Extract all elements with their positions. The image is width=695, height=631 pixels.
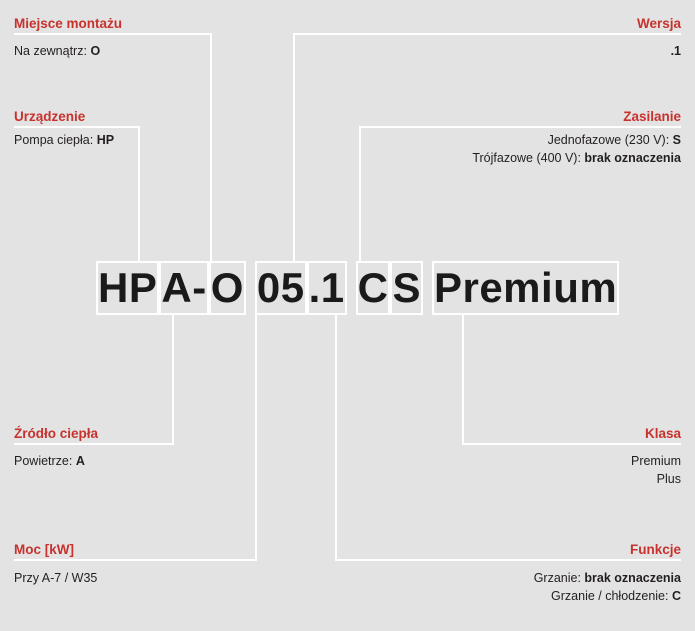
callout-funkcje-caption: Funkcje	[630, 541, 681, 558]
callout-urzadzenie: Urządzenie	[14, 108, 85, 125]
row-label: Pompa ciepła:	[14, 133, 93, 147]
leader-zrodlo-ciepla-horizontal	[14, 443, 174, 445]
leader-urzadzenie-vertical	[138, 126, 140, 261]
code-segment-s: S	[390, 261, 423, 315]
code-segment-o: O	[209, 261, 246, 315]
row-value: brak oznaczenia	[584, 571, 681, 585]
code-segment-dot1: .1	[307, 261, 347, 315]
callout-funkcje-body: Grzanie: brak oznaczenia Grzanie / chłod…	[534, 570, 681, 605]
callout-row: Grzanie / chłodzenie: C	[534, 588, 681, 606]
leader-moc-horizontal	[14, 559, 257, 561]
callout-row: Na zewnątrz: O	[14, 43, 100, 61]
callout-moc: Moc [kW]	[14, 541, 74, 558]
leader-zasilanie-vertical	[359, 126, 361, 261]
callout-row: Przy A-7 / W35	[14, 570, 97, 588]
leader-miejsce-montazu-vertical	[210, 33, 212, 261]
code-gap-3	[423, 261, 432, 315]
code-gap-1	[246, 261, 255, 315]
callout-row: Trójfazowe (400 V): brak oznaczenia	[472, 150, 681, 168]
code-segment-05: 05	[255, 261, 307, 315]
callout-zasilanie-caption: Zasilanie	[623, 108, 681, 125]
row-value: C	[672, 589, 681, 603]
code-segment-a-dash: A-	[159, 261, 208, 315]
callout-urzadzenie-body: Pompa ciepła: HP	[14, 132, 114, 150]
product-code: HP A- O 05 .1 C S Premium	[96, 261, 619, 315]
callout-zrodlo-ciepla: Źródło ciepła	[14, 425, 98, 442]
callout-zrodlo-ciepla-caption: Źródło ciepła	[14, 425, 98, 442]
row-value: A	[76, 454, 85, 468]
callout-row: Jednofazowe (230 V): S	[472, 132, 681, 150]
code-segment-c: C	[356, 261, 391, 315]
row-value: .1	[671, 44, 681, 58]
leader-klasa-vertical	[462, 315, 464, 445]
callout-zrodlo-ciepla-body: Powietrze: A	[14, 453, 85, 471]
row-label: Jednofazowe (230 V):	[548, 133, 670, 147]
leader-zasilanie-horizontal	[359, 126, 681, 128]
callout-row: Grzanie: brak oznaczenia	[534, 570, 681, 588]
leader-miejsce-montazu-horizontal	[14, 33, 212, 35]
callout-funkcje: Funkcje	[630, 541, 681, 558]
row-value: HP	[97, 133, 114, 147]
callout-moc-caption: Moc [kW]	[14, 541, 74, 558]
leader-funkcje-horizontal	[335, 559, 681, 561]
nomenclature-diagram: Miejsce montażu Na zewnątrz: O Urządzeni…	[0, 0, 695, 631]
row-value: S	[673, 133, 681, 147]
leader-urzadzenie-horizontal	[14, 126, 140, 128]
callout-row: Pompa ciepła: HP	[14, 132, 114, 150]
leader-wersja-vertical	[293, 33, 295, 261]
row-value: brak oznaczenia	[584, 151, 681, 165]
callout-zasilanie-body: Jednofazowe (230 V): S Trójfazowe (400 V…	[472, 132, 681, 167]
callout-klasa: Klasa	[645, 425, 681, 442]
callout-klasa-caption: Klasa	[645, 425, 681, 442]
callout-row: Premium	[631, 453, 681, 471]
callout-zasilanie: Zasilanie	[623, 108, 681, 125]
callout-miejsce-montazu-body: Na zewnątrz: O	[14, 43, 100, 61]
callout-miejsce-montazu-caption: Miejsce montażu	[14, 15, 122, 32]
leader-moc-vertical	[255, 315, 257, 561]
callout-row: .1	[671, 43, 681, 61]
callout-klasa-body: Premium Plus	[631, 453, 681, 488]
row-label: Grzanie / chłodzenie:	[551, 589, 668, 603]
callout-row: Powietrze: A	[14, 453, 85, 471]
row-label: Powietrze:	[14, 454, 72, 468]
leader-klasa-horizontal	[462, 443, 681, 445]
leader-zrodlo-ciepla-vertical	[172, 315, 174, 445]
row-label: Grzanie:	[534, 571, 581, 585]
callout-row: Plus	[631, 471, 681, 489]
leader-funkcje-vertical	[335, 315, 337, 561]
row-label: Na zewnątrz:	[14, 44, 87, 58]
callout-moc-body: Przy A-7 / W35	[14, 570, 97, 588]
callout-wersja-body: .1	[671, 43, 681, 61]
leader-wersja-horizontal	[293, 33, 681, 35]
row-value: O	[90, 44, 100, 58]
callout-wersja-caption: Wersja	[637, 15, 681, 32]
code-gap-2	[347, 261, 356, 315]
code-segment-premium: Premium	[432, 261, 619, 315]
callout-miejsce-montazu: Miejsce montażu	[14, 15, 122, 32]
code-segment-hp: HP	[96, 261, 159, 315]
row-label: Trójfazowe (400 V):	[472, 151, 581, 165]
callout-wersja: Wersja	[637, 15, 681, 32]
callout-urzadzenie-caption: Urządzenie	[14, 108, 85, 125]
